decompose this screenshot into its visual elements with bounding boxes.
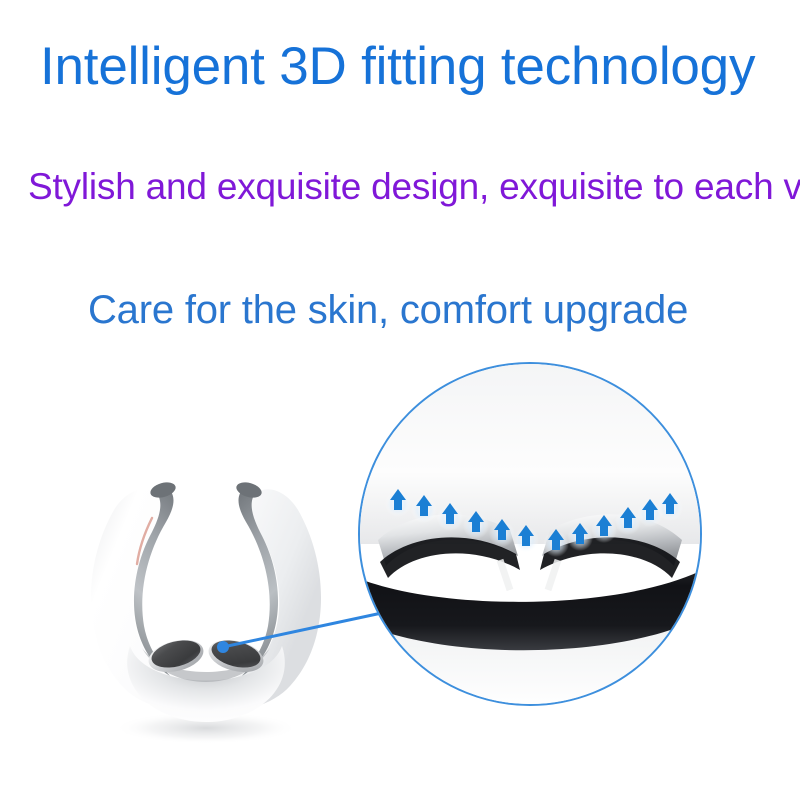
tagline-text: Care for the skin, comfort upgrade bbox=[88, 288, 688, 333]
page-title: Intelligent 3D fitting technology bbox=[40, 36, 755, 97]
product-image-neck-massager bbox=[60, 440, 350, 750]
subtitle-text: Stylish and exquisite design, exquisite … bbox=[28, 166, 800, 208]
product-marketing-image: Intelligent 3D fitting technology Stylis… bbox=[0, 0, 800, 800]
magnifier-circle bbox=[358, 362, 702, 706]
zoom-band-notch-left bbox=[500, 560, 510, 590]
